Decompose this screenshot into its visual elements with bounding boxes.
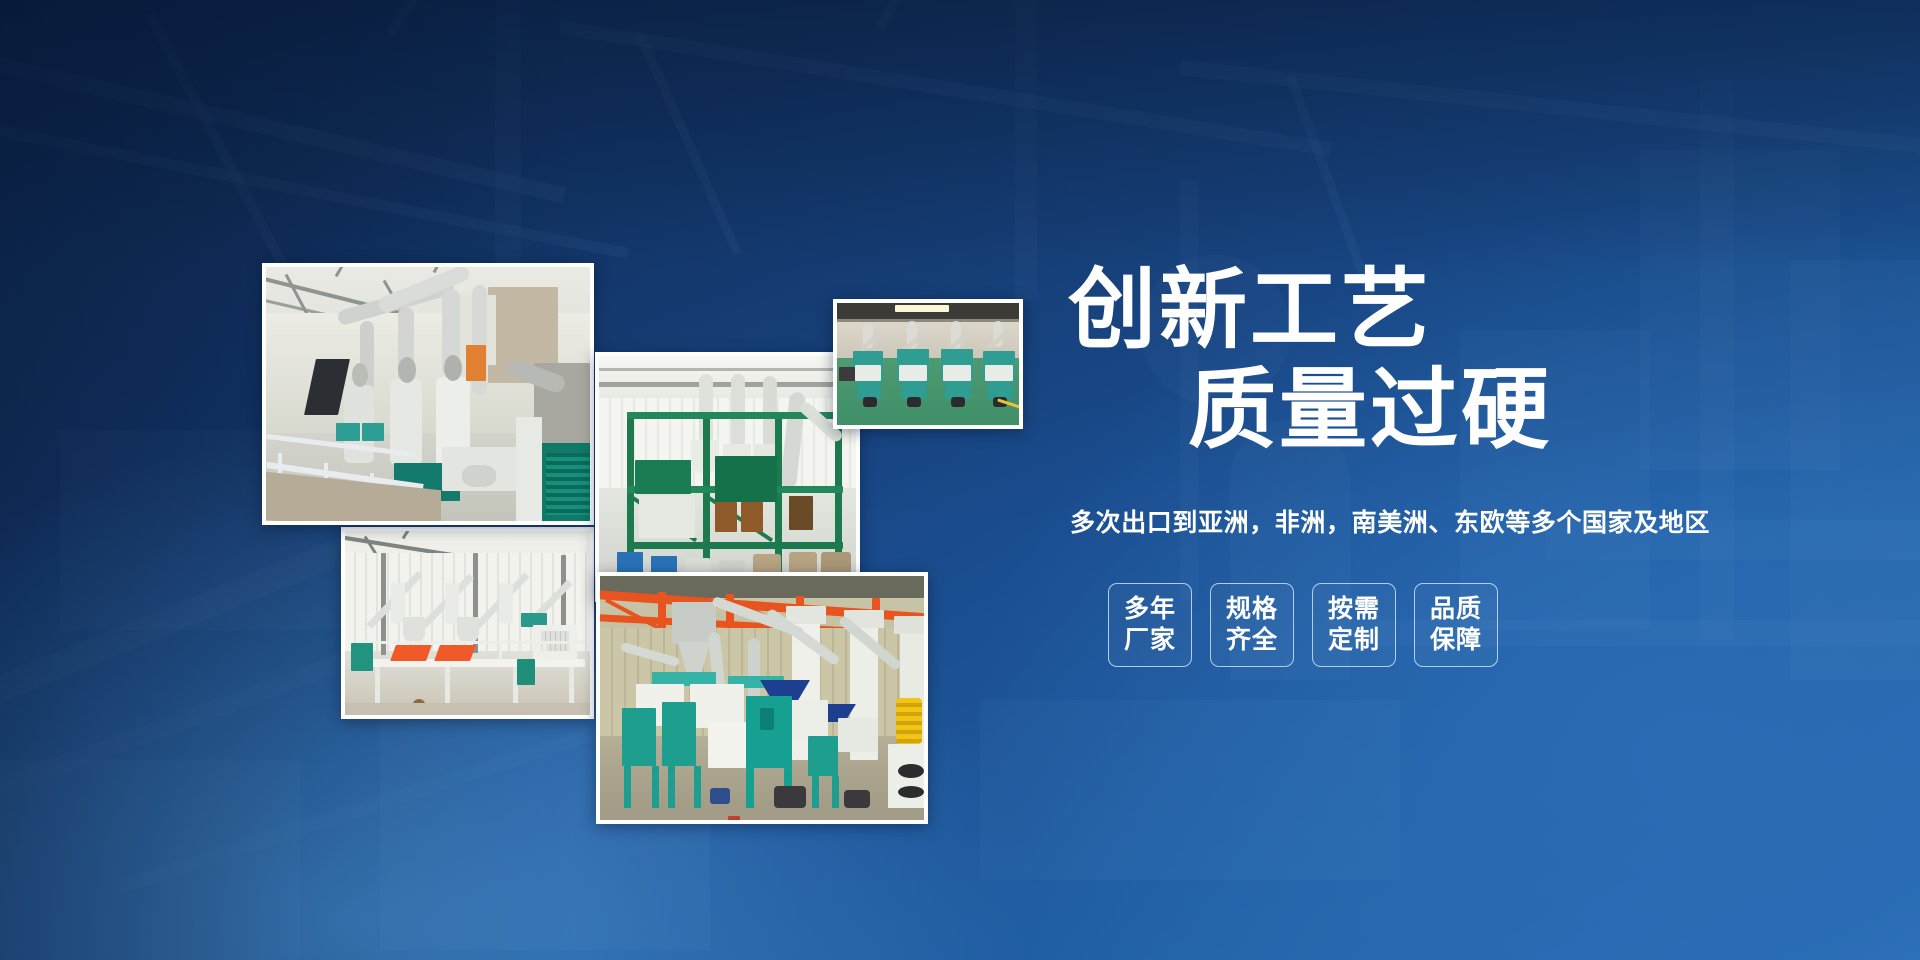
feature-badge-line-2: 齐全 — [1226, 625, 1278, 656]
feature-badge-line-1: 多年 — [1124, 594, 1176, 625]
feature-badge-line-2: 定制 — [1328, 625, 1380, 656]
banner-text-panel: 创新工艺 质量过硬 多次出口到亚洲，非洲，南美洲、东欧等多个国家及地区 多年 厂… — [1060, 260, 1660, 667]
headline-line-1: 创新工艺 — [1068, 260, 1660, 360]
promo-banner: 创新工艺 质量过硬 多次出口到亚洲，非洲，南美洲、东欧等多个国家及地区 多年 厂… — [0, 0, 1920, 960]
collage-photo-2 — [595, 352, 860, 602]
collage-photo-4 — [341, 527, 594, 719]
collage-photo-4-image — [345, 531, 590, 715]
collage-photo-1 — [262, 263, 594, 525]
headline-line-2: 质量过硬 — [1188, 360, 1660, 460]
collage-photo-3 — [833, 299, 1023, 429]
feature-badge-list: 多年 厂家 规格 齐全 按需 定制 品质 保障 — [1108, 583, 1660, 667]
collage-photo-2-image — [599, 356, 856, 598]
collage-photo-5-image — [600, 576, 924, 820]
feature-badge-line-1: 按需 — [1328, 594, 1380, 625]
collage-photo-5 — [596, 572, 928, 824]
feature-badge-line-2: 厂家 — [1124, 625, 1176, 656]
feature-badge-line-1: 品质 — [1430, 594, 1482, 625]
feature-badge-line-1: 规格 — [1226, 594, 1278, 625]
banner-subtitle: 多次出口到亚洲，非洲，南美洲、东欧等多个国家及地区 — [1070, 503, 1660, 539]
feature-badge-line-2: 保障 — [1430, 625, 1482, 656]
feature-badge-custom-made[interactable]: 按需 定制 — [1312, 583, 1396, 667]
feature-badge-years-manufacturer[interactable]: 多年 厂家 — [1108, 583, 1192, 667]
collage-photo-1-image — [266, 267, 590, 521]
feature-badge-quality-guarantee[interactable]: 品质 保障 — [1414, 583, 1498, 667]
collage-photo-3-image — [837, 303, 1019, 425]
feature-badge-full-specifications[interactable]: 规格 齐全 — [1210, 583, 1294, 667]
